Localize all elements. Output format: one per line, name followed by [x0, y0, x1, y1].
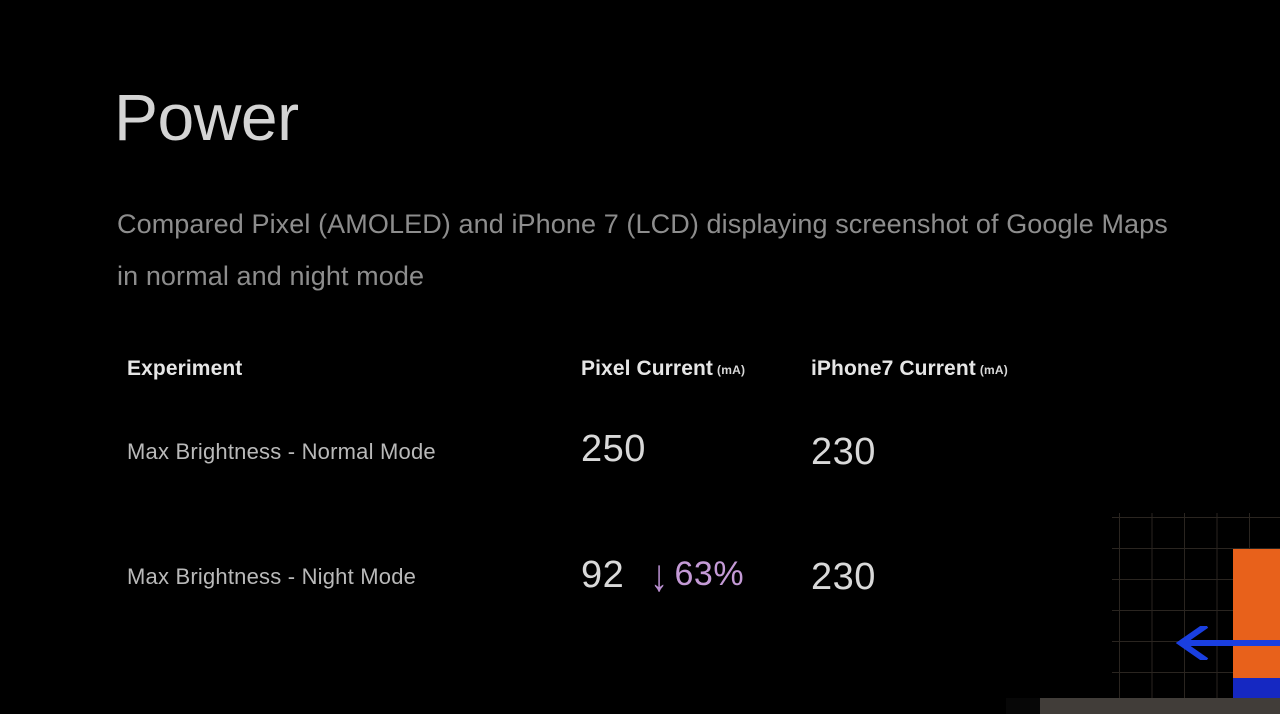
table-header-iphone7-current-label: iPhone7 Current: [811, 357, 976, 380]
table-header-pixel-current-unit: (mA): [717, 363, 745, 377]
cell-pixel-current-row-1: 250: [581, 430, 646, 468]
bottom-strip: [1040, 698, 1280, 714]
table-header-experiment-label: Experiment: [127, 357, 242, 380]
bottom-strip-shadow: [1006, 698, 1042, 714]
arrow-left-icon: [1168, 626, 1280, 660]
table-row: Max Brightness - Night Mode: [127, 564, 416, 590]
corner-chart-widget: [1112, 513, 1280, 714]
table-header-experiment: Experiment: [127, 357, 242, 381]
status-badge-delta: ↓ 63%: [650, 556, 744, 592]
presentation-slide: Power Compared Pixel (AMOLED) and iPhone…: [0, 0, 1280, 714]
table-row: Max Brightness - Normal Mode: [127, 439, 436, 465]
cell-pixel-current-row-2: 92: [581, 556, 624, 594]
table-header-iphone7-current-unit: (mA): [980, 363, 1008, 377]
table-header-pixel-current-label: Pixel Current: [581, 357, 713, 380]
table-header-iphone7-current: iPhone7 Current(mA): [811, 357, 1008, 381]
cell-iphone7-current-row-1: 230: [811, 433, 876, 471]
delta-value: 63%: [675, 557, 745, 591]
arrow-down-icon: ↓: [650, 553, 669, 598]
slide-subtitle: Compared Pixel (AMOLED) and iPhone 7 (LC…: [117, 198, 1177, 302]
table-header-pixel-current: Pixel Current(mA): [581, 357, 745, 381]
page-title: Power: [114, 84, 299, 150]
cell-iphone7-current-row-2: 230: [811, 558, 876, 596]
